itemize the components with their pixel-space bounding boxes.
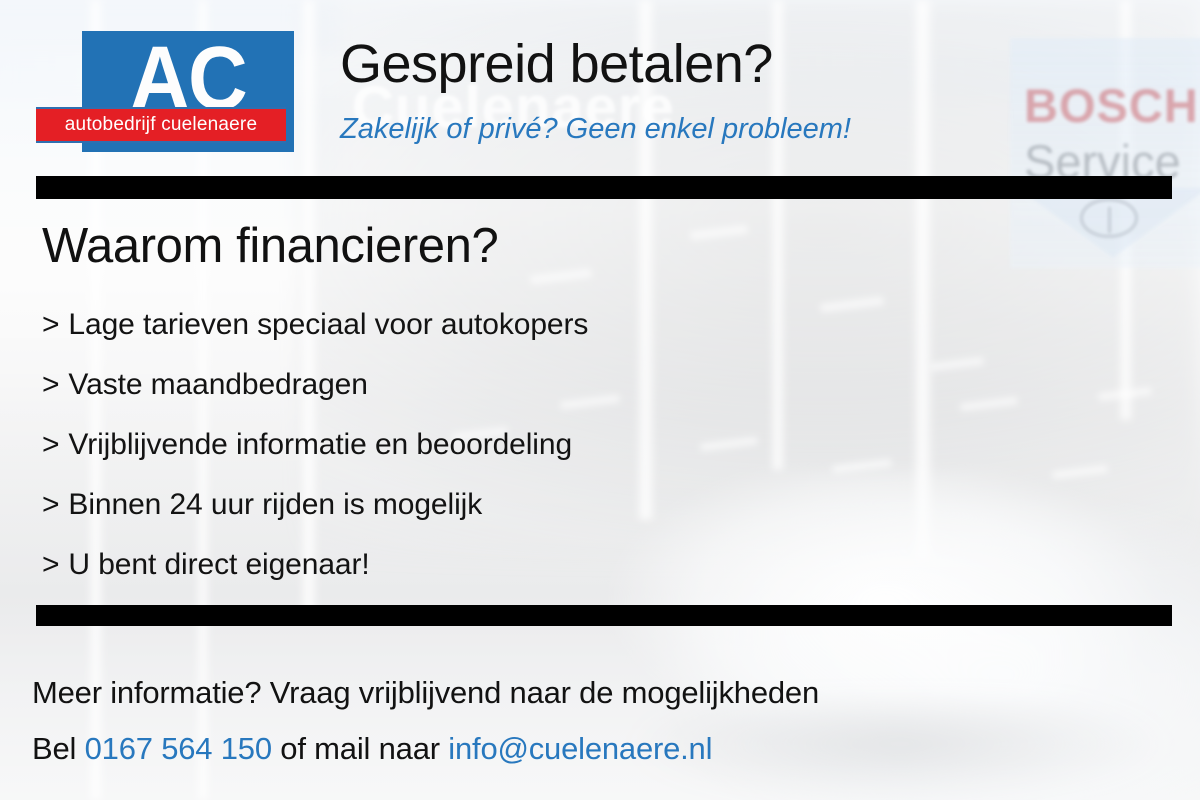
chevron-right-icon: > bbox=[42, 295, 59, 355]
chevron-right-icon: > bbox=[42, 475, 59, 535]
list-item: >Binnen 24 uur rijden is mogelijk bbox=[42, 475, 1042, 535]
list-item: >Lage tarieven speciaal voor autokopers bbox=[42, 295, 1042, 355]
chevron-right-icon: > bbox=[42, 535, 59, 595]
phone-number-link[interactable]: 0167 564 150 bbox=[85, 731, 272, 766]
list-item-label: Lage tarieven speciaal voor autokopers bbox=[68, 308, 588, 341]
footer-info-line: Meer informatie? Vraag vrijblijvend naar… bbox=[32, 665, 1182, 721]
advert-content: AC autobedrijf cuelenaere Gespreid betal… bbox=[0, 0, 1200, 800]
chevron-right-icon: > bbox=[42, 415, 59, 475]
mail-connector-label: of mail naar bbox=[280, 731, 440, 766]
logo-tagline-band: autobedrijf cuelenaere bbox=[36, 107, 286, 143]
list-item-label: Binnen 24 uur rijden is mogelijk bbox=[68, 488, 482, 521]
footer-contact-line: Bel 0167 564 150 of mail naar info@cuele… bbox=[32, 721, 1182, 777]
list-item-label: Vaste maandbedragen bbox=[68, 368, 367, 401]
list-item: >U bent direct eigenaar! bbox=[42, 535, 1042, 595]
contact-footer: Meer informatie? Vraag vrijblijvend naar… bbox=[32, 665, 1182, 777]
divider-bottom bbox=[36, 605, 1172, 626]
benefits-list: >Lage tarieven speciaal voor autokopers … bbox=[42, 295, 1042, 595]
list-item-label: Vrijblijvende informatie en beoordeling bbox=[68, 428, 572, 461]
headline: Gespreid betalen? bbox=[340, 33, 773, 95]
subheadline: Zakelijk of privé? Geen enkel probleem! bbox=[340, 113, 851, 146]
list-item-label: U bent direct eigenaar! bbox=[68, 548, 369, 581]
email-address-link[interactable]: info@cuelenaere.nl bbox=[448, 731, 712, 766]
list-item: >Vaste maandbedragen bbox=[42, 355, 1042, 415]
section-heading: Waarom financieren? bbox=[42, 218, 498, 274]
divider-top bbox=[36, 176, 1172, 199]
logo-tagline: autobedrijf cuelenaere bbox=[65, 114, 257, 136]
list-item: >Vrijblijvende informatie en beoordeling bbox=[42, 415, 1042, 475]
call-prefix-label: Bel bbox=[32, 731, 76, 766]
chevron-right-icon: > bbox=[42, 355, 59, 415]
